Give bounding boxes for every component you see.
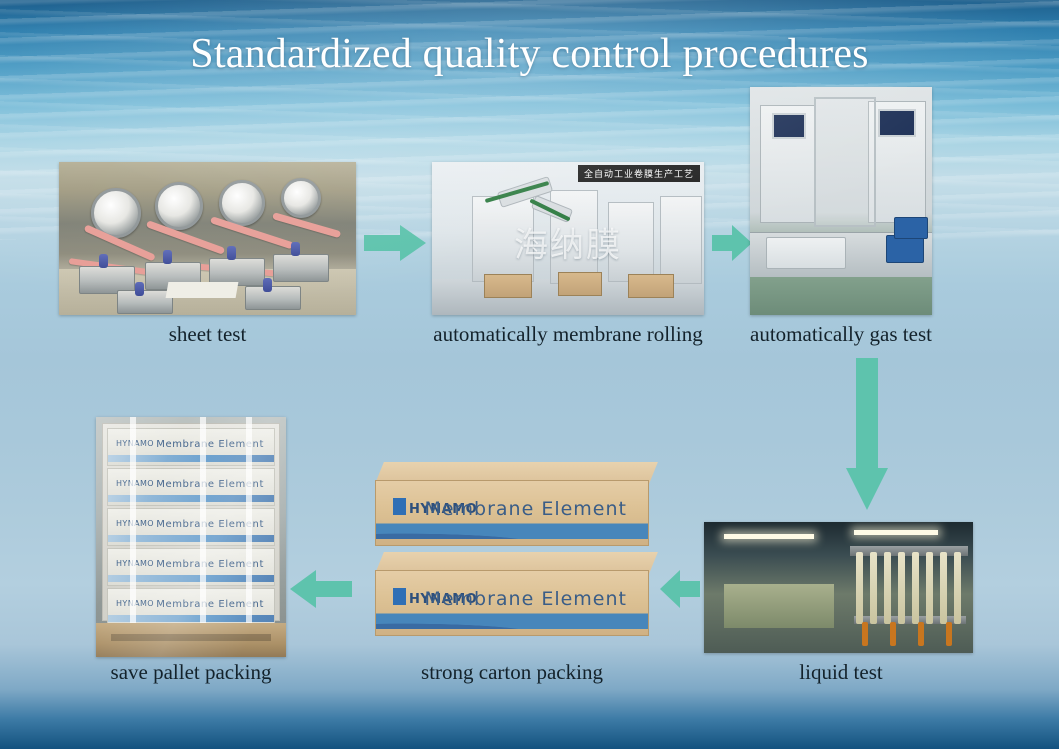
image-membrane-rolling: 全自动工业卷膜生产工艺 海纳膜 xyxy=(432,162,704,315)
machine-frame xyxy=(814,97,876,227)
wooden-pallet xyxy=(96,623,286,657)
product-box xyxy=(628,274,674,298)
caption-liquid-test: liquid test xyxy=(734,660,948,685)
parts-bin xyxy=(894,217,928,239)
element-pile xyxy=(724,584,834,628)
membrane-vessel xyxy=(940,552,947,624)
valve-cap xyxy=(291,242,300,256)
hmi-screen xyxy=(878,109,916,137)
caption-pallet-packing: save pallet packing xyxy=(66,660,316,685)
valve-handle xyxy=(862,622,868,646)
membrane-vessel xyxy=(954,552,961,624)
carton-stack: HYNAMO Membrane Element HYNAMO Membrane … xyxy=(102,423,280,621)
membrane-vessel xyxy=(884,552,891,624)
carton-product-label: Membrane Element xyxy=(424,498,627,520)
machine-unit xyxy=(660,196,702,284)
valve-cap xyxy=(135,282,144,296)
ceiling-lamp xyxy=(724,534,814,539)
overlay-watermark-text: 海纳膜 xyxy=(514,217,622,266)
image-pallet-packing: HYNAMO Membrane Element HYNAMO Membrane … xyxy=(96,417,286,657)
test-cell xyxy=(245,286,301,310)
valve-cap xyxy=(99,254,108,268)
arrow-liquid-to-carton xyxy=(660,570,700,608)
stretch-strap xyxy=(246,417,252,625)
stretch-strap xyxy=(130,417,136,625)
product-box xyxy=(558,272,602,296)
image-sheet-test xyxy=(59,162,356,315)
product-box xyxy=(484,274,532,298)
image-liquid-test xyxy=(704,522,973,653)
image-carton-upper: HYNAMO Membrane Element xyxy=(375,462,649,546)
caption-gas-test: automatically gas test xyxy=(734,322,948,347)
stretch-strap xyxy=(200,417,206,625)
slide-canvas: Standardized quality control procedures xyxy=(28,22,1031,727)
parts-bin xyxy=(886,235,924,263)
page-title: Standardized quality control procedures xyxy=(28,30,1031,78)
test-cell xyxy=(117,290,173,314)
pipe-rack xyxy=(850,546,968,556)
membrane-vessel xyxy=(912,552,919,624)
brand-logo-icon xyxy=(393,498,406,515)
pressure-gauge-icon xyxy=(219,180,265,226)
brand-logo-icon xyxy=(393,588,406,605)
arrow-rolling-to-gas xyxy=(712,225,752,261)
overlay-banner-text: 全自动工业卷膜生产工艺 xyxy=(578,165,700,182)
pressure-gauge-icon xyxy=(281,178,321,218)
image-carton-lower: HYNAMO Membrane Element xyxy=(375,552,649,636)
membrane-vessel xyxy=(926,552,933,624)
valve-handle xyxy=(946,622,952,646)
lower-cabinet xyxy=(766,237,846,269)
image-gas-test xyxy=(750,87,932,315)
membrane-vessel xyxy=(898,552,905,624)
caption-carton-packing: strong carton packing xyxy=(372,660,652,685)
caption-sheet-test: sheet test xyxy=(59,322,356,347)
paper-sheet xyxy=(166,282,239,298)
valve-handle xyxy=(918,622,924,646)
pressure-gauge-icon xyxy=(155,182,203,230)
valve-cap xyxy=(263,278,272,292)
carton-product-label: Membrane Element xyxy=(424,588,627,610)
membrane-vessel xyxy=(870,552,877,624)
slide-background: Standardized quality control procedures xyxy=(0,0,1059,749)
valve-cap xyxy=(227,246,236,260)
membrane-vessel xyxy=(856,552,863,624)
valve-handle xyxy=(890,622,896,646)
test-cell xyxy=(273,254,329,282)
caption-membrane-rolling: automatically membrane rolling xyxy=(378,322,758,347)
arrow-sheet-to-rolling xyxy=(364,225,426,261)
hmi-screen xyxy=(772,113,806,139)
arrow-carton-to-pallet xyxy=(290,570,352,608)
ceiling-lamp xyxy=(854,530,938,535)
arrow-gas-to-liquid xyxy=(846,358,888,510)
valve-cap xyxy=(163,250,172,264)
